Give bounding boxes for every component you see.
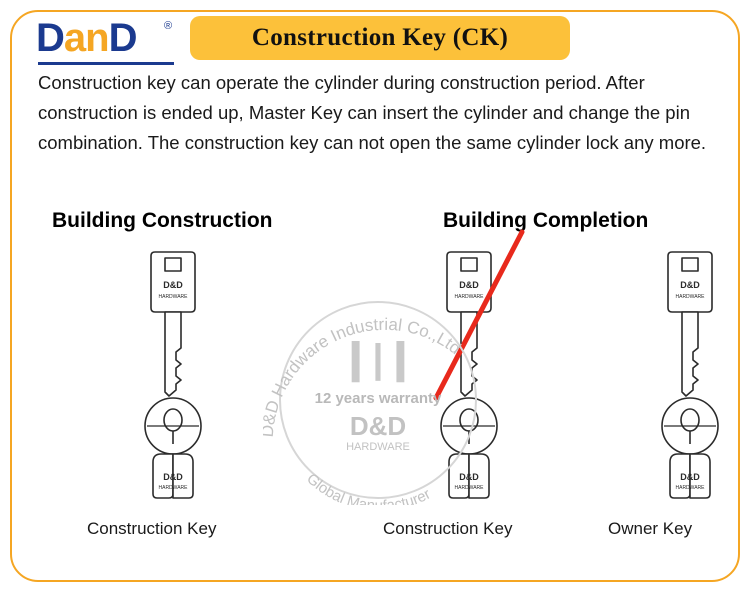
brand-logo-d2: D (109, 16, 137, 60)
caption-construction-key-1: Construction Key (87, 519, 216, 539)
diagram-item-2: D&D HARDWARE D&D HARDWARE (399, 248, 539, 503)
cylinder-label-brand: D&D (680, 472, 700, 482)
key-label-sub: HARDWARE (159, 294, 189, 300)
brand-logo-an: an (64, 16, 109, 60)
registered-trademark-icon: ® (164, 20, 172, 32)
key-label-sub: HARDWARE (455, 294, 485, 300)
poster-root: DanD ® Construction Key (CK) Constructio… (0, 0, 750, 592)
cylinder-label-brand: D&D (163, 472, 183, 482)
section-heading-building-completion: Building Completion (443, 209, 648, 233)
diagram-item-1: D&D HARDWARE D&D HARDWARE (103, 248, 243, 503)
cylinder-label-brand: D&D (459, 472, 479, 482)
key-label-brand: D&D (163, 280, 183, 290)
section-heading-building-construction: Building Construction (52, 209, 272, 233)
brand-logo-underline (38, 62, 174, 65)
cylinder-label-sub: HARDWARE (455, 485, 485, 491)
cylinder-label-sub: HARDWARE (676, 485, 706, 491)
page-title-banner: Construction Key (CK) (190, 16, 570, 60)
caption-owner-key: Owner Key (608, 519, 692, 539)
key-label-brand: D&D (459, 280, 479, 290)
key-label-sub: HARDWARE (676, 294, 706, 300)
brand-logo: DanD ® (36, 16, 186, 66)
key-and-cylinder-illustration: D&D HARDWARE D&D HARDWARE (103, 248, 243, 503)
description-text: Construction key can operate the cylinde… (38, 68, 713, 158)
page-title: Construction Key (CK) (252, 24, 508, 52)
cylinder-label-sub: HARDWARE (159, 485, 189, 491)
brand-logo-d1: D (36, 16, 64, 60)
key-and-cylinder-illustration: D&D HARDWARE D&D HARDWARE (399, 248, 539, 503)
key-and-cylinder-illustration: D&D HARDWARE D&D HARDWARE (620, 248, 750, 503)
caption-construction-key-2: Construction Key (383, 519, 512, 539)
key-label-brand: D&D (680, 280, 700, 290)
diagram-item-3: D&D HARDWARE D&D HARDWARE (620, 248, 750, 503)
